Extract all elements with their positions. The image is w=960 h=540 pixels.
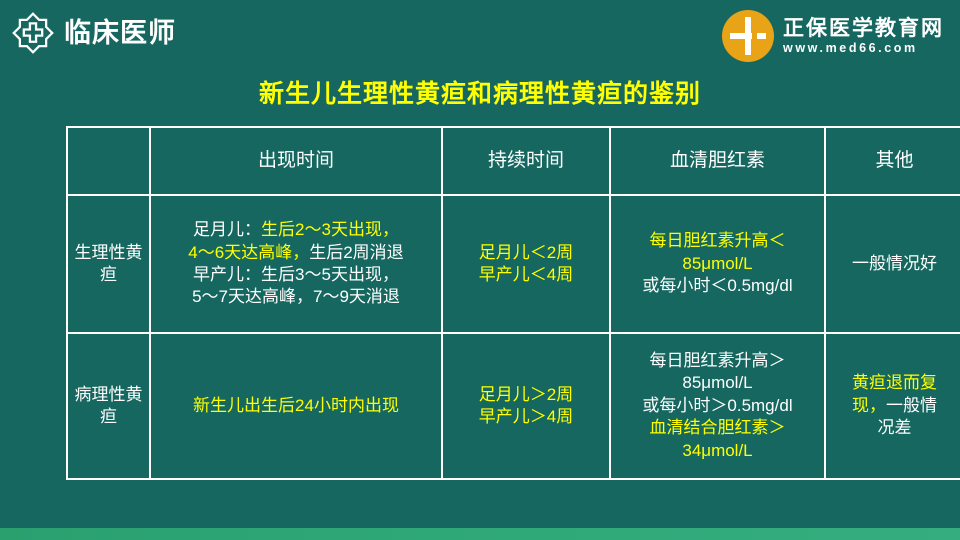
header-cell-other: 其他 — [825, 127, 960, 195]
cell-physiologic-duration: 足月儿＜2周 早产儿＜4周 — [442, 195, 610, 333]
header-cell-bilirubin: 血清胆红素 — [610, 127, 825, 195]
row-label-physiologic: 生理性黄疸 — [67, 195, 150, 333]
cell-pathologic-other: 黄疸退而复 现，一般情 况差 — [825, 333, 960, 479]
onset-line3: 早产儿：生后3～5天出现， — [157, 264, 435, 286]
med66-cross-logo-icon — [722, 10, 774, 62]
bilirubin-line1: 每日胆红素升高＜ — [617, 230, 818, 252]
other-line4: 况差 — [878, 418, 912, 437]
duration-line2: 早产儿＜4周 — [449, 264, 603, 286]
cell-pathologic-onset: 新生儿出生后24小时内出现 — [150, 333, 442, 479]
onset-line1-prefix: 足月儿： — [193, 220, 261, 239]
bilirubin-line3: 或每小时＞0.5mg/dl — [617, 395, 818, 417]
cell-physiologic-bilirubin: 每日胆红素升高＜ 85μmol/L 或每小时＜0.5mg/dl — [610, 195, 825, 333]
comparison-table: 出现时间 持续时间 血清胆红素 其他 生理性黄疸 足月儿：生后2～3天出现， 4… — [66, 126, 960, 480]
brand-left: 临床医师 — [12, 12, 176, 54]
brand-right-name: 正保医学教育网 — [783, 18, 944, 39]
header-cell-onset: 出现时间 — [150, 127, 442, 195]
bilirubin-line2: 85μmol/L — [617, 372, 818, 394]
cell-physiologic-onset: 足月儿：生后2～3天出现， 4～6天达高峰，生后2周消退 早产儿：生后3～5天出… — [150, 195, 442, 333]
bilirubin-line4: 血清结合胆红素＞ — [617, 417, 818, 439]
other-line2: 现， — [852, 396, 886, 415]
header-cell-duration: 持续时间 — [442, 127, 610, 195]
onset-line4: 5～7天达高峰，7～9天消退 — [157, 286, 435, 308]
bilirubin-line3: 或每小时＜0.5mg/dl — [617, 275, 818, 297]
onset-line2-suffix: 生后2周消退 — [309, 243, 403, 262]
onset-line2-highlight: 4～6天达高峰， — [188, 243, 309, 262]
cell-physiologic-other: 一般情况好 — [825, 195, 960, 333]
medical-cross-badge-icon — [12, 12, 54, 54]
duration-line2: 早产儿＞4周 — [449, 406, 603, 428]
table-row: 病理性黄疸 新生儿出生后24小时内出现 足月儿＞2周 早产儿＞4周 每日胆红素升… — [67, 333, 960, 479]
duration-line1: 足月儿＜2周 — [449, 242, 603, 264]
page-title: 新生儿生理性黄疸和病理性黄疸的鉴别 — [0, 74, 960, 110]
row-label-pathologic: 病理性黄疸 — [67, 333, 150, 479]
header-cell-blank — [67, 127, 150, 195]
other-line1: 黄疸退而复 — [852, 373, 937, 392]
other-line1: 一般情况好 — [832, 253, 957, 275]
bilirubin-line1: 每日胆红素升高＞ — [617, 350, 818, 372]
other-line3: 一般情 — [886, 396, 937, 415]
brand-right-url: www.med66.com — [783, 42, 944, 55]
brand-right[interactable]: 正保医学教育网 www.med66.com — [722, 10, 944, 62]
footer-accent-bar — [0, 528, 960, 540]
cell-pathologic-bilirubin: 每日胆红素升高＞ 85μmol/L 或每小时＞0.5mg/dl 血清结合胆红素＞… — [610, 333, 825, 479]
duration-line1: 足月儿＞2周 — [449, 384, 603, 406]
onset-line1-highlight: 生后2～3天出现， — [261, 220, 399, 239]
brand-left-label: 临床医师 — [64, 20, 176, 47]
slide-root: 临床医师 正保医学教育网 www.med66.com 新生儿生理性黄疸和病理性黄… — [0, 0, 960, 540]
bilirubin-line2: 85μmol/L — [617, 253, 818, 275]
cell-pathologic-duration: 足月儿＞2周 早产儿＞4周 — [442, 333, 610, 479]
table-row: 生理性黄疸 足月儿：生后2～3天出现， 4～6天达高峰，生后2周消退 早产儿：生… — [67, 195, 960, 333]
bilirubin-line5: 34μmol/L — [617, 440, 818, 462]
table-header-row: 出现时间 持续时间 血清胆红素 其他 — [67, 127, 960, 195]
onset-line1: 新生儿出生后24小时内出现 — [157, 395, 435, 417]
